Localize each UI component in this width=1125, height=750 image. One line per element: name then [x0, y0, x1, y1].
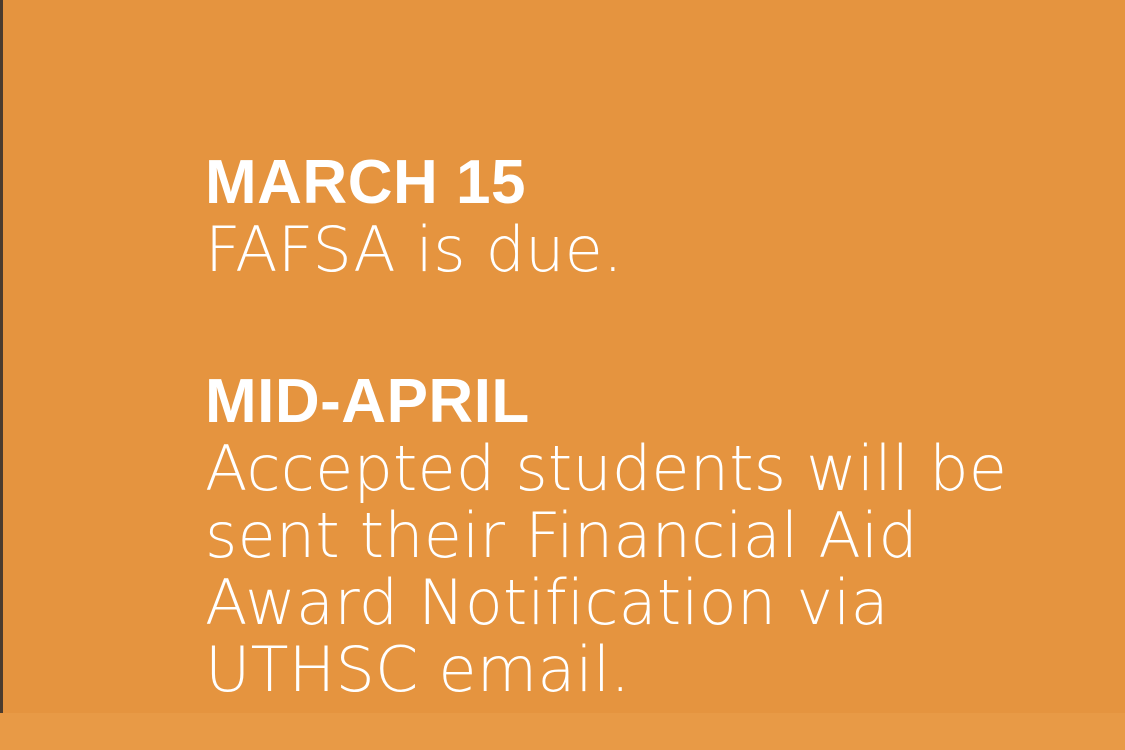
content-area: MARCH 15 FAFSA is due. MID-APRIL Accepte…: [205, 150, 1085, 703]
deadline-date-heading: MID-APRIL: [205, 369, 1085, 435]
bottom-band: [0, 713, 1125, 750]
deadline-description: Accepted students will be sent their Fin…: [205, 435, 1085, 703]
deadline-block-mid-april: MID-APRIL Accepted students will be sent…: [205, 369, 1085, 703]
deadline-block-march: MARCH 15 FAFSA is due.: [205, 150, 1085, 283]
deadline-date-heading: MARCH 15: [205, 150, 1085, 216]
deadline-slide: MARCH 15 FAFSA is due. MID-APRIL Accepte…: [0, 0, 1125, 750]
left-edge-strip: [0, 0, 3, 750]
deadline-description: FAFSA is due.: [205, 216, 1085, 283]
